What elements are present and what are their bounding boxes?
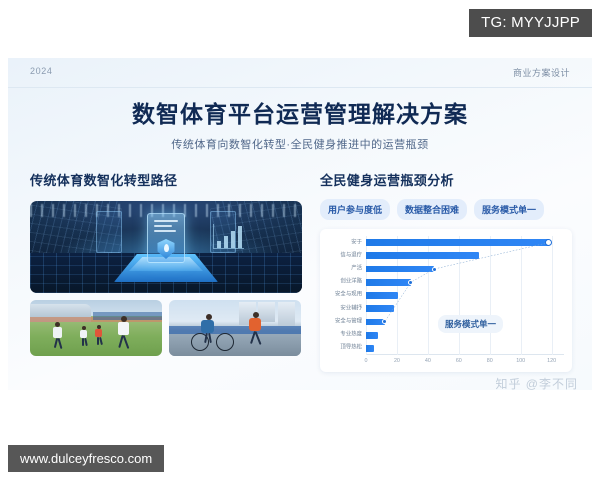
chart-x-tick-labels: 020406080100120 <box>366 358 564 368</box>
tag-data-integration[interactable]: 数据整合困难 <box>397 199 467 220</box>
background-building <box>278 302 295 328</box>
chart-x-tick: 80 <box>487 358 493 364</box>
chart-category-label: 产活 <box>351 266 362 271</box>
telegram-watermark-tag: TG: MYYJJPP <box>469 9 592 37</box>
soccer-player-left <box>52 322 64 349</box>
chart-bar-row: 产活 <box>366 266 564 273</box>
hologram-bar-chart-icon <box>213 224 244 249</box>
chart-x-tick: 20 <box>394 358 400 364</box>
chart-bar[interactable] <box>366 345 374 352</box>
thumbnail-row <box>30 300 302 356</box>
chart-category-label: 专业热度 <box>340 332 362 337</box>
chart-x-tick: 120 <box>547 358 556 364</box>
bottleneck-tag-row: 用户参与度低 数据整合困难 服务模式单一 <box>320 199 572 220</box>
bottleneck-bar-chart: 安于信与退疗产活创业洋路安全与现用安业辅抒安全与管理专业热度顶导热松 02040… <box>320 229 572 372</box>
cyclist-figure <box>199 314 217 344</box>
chart-bar[interactable] <box>366 252 479 259</box>
chart-x-tick: 100 <box>516 358 525 364</box>
tag-user-participation[interactable]: 用户参与度低 <box>320 199 390 220</box>
stadium-hologram-image <box>30 201 302 293</box>
runner-figure <box>247 312 264 346</box>
chart-bar-row: 顶导热松 <box>366 345 564 352</box>
slide-year-label: 2024 <box>30 66 52 76</box>
left-panel: 传统体育数智化转型路径 <box>30 170 302 356</box>
chart-category-label: 安于 <box>351 240 362 245</box>
chart-category-label: 安业辅抒 <box>340 306 362 311</box>
chart-bar-row: 安于 <box>366 239 564 246</box>
chart-bar[interactable] <box>366 279 411 286</box>
chart-bar-row: 安业辅抒 <box>366 305 564 312</box>
chart-category-label: 安全与现用 <box>335 293 362 298</box>
site-url-watermark: www.dulceyfresco.com <box>8 445 164 472</box>
tag-service-model[interactable]: 服务模式单一 <box>474 199 544 220</box>
chart-x-tick: 60 <box>456 358 462 364</box>
hologram-panel-left <box>96 211 122 253</box>
chart-x-tick: 40 <box>425 358 431 364</box>
chart-category-label: 顶导热松 <box>340 346 362 351</box>
track-railing <box>169 326 301 333</box>
soccer-player-red <box>95 325 104 345</box>
slide-kicker-label: 商业方案设计 <box>513 66 570 79</box>
chart-bar-row: 安全与现用 <box>366 292 564 299</box>
chart-annotation-callout: 服务模式单一 <box>438 315 503 333</box>
right-panel-heading: 全民健身运营瓶颈分析 <box>320 170 572 189</box>
left-panel-heading: 传统体育数智化转型路径 <box>30 170 302 189</box>
chart-bar[interactable] <box>366 305 394 312</box>
chart-bar-row: 创业洋路 <box>366 279 564 286</box>
page-subtitle: 传统体育向数智化转型·全民健身推进中的运营瓶颈 <box>8 136 592 152</box>
soccer-photo-thumbnail <box>30 300 162 356</box>
chart-x-axis <box>366 354 564 355</box>
chart-plot-area: 安于信与退疗产活创业洋路安全与现用安业辅抒安全与管理专业热度顶导热松 <box>366 236 564 355</box>
chart-category-label: 安全与管理 <box>335 319 362 324</box>
chart-bar[interactable] <box>366 292 398 299</box>
zhihu-watermark: 知乎 @李不同 <box>495 375 578 390</box>
chart-category-label: 创业洋路 <box>340 280 362 285</box>
slide-header-bar <box>8 58 592 88</box>
slide-title-block: 数智体育平台运营管理解决方案 传统体育向数智化转型·全民健身推进中的运营瓶颈 <box>8 102 592 152</box>
bicycle-wheel-front <box>216 333 234 351</box>
chart-bar[interactable] <box>366 266 434 273</box>
chart-data-marker[interactable] <box>432 267 437 272</box>
chart-bar[interactable] <box>366 332 378 339</box>
soccer-player-foreground <box>116 316 132 350</box>
right-panel: 全民健身运营瓶颈分析 用户参与度低 数据整合困难 服务模式单一 安于信与退疗产活… <box>320 170 572 372</box>
cycling-photo-thumbnail <box>169 300 301 356</box>
page-title: 数智体育平台运营管理解决方案 <box>8 102 592 127</box>
track-road <box>169 334 301 356</box>
chart-category-label: 信与退疗 <box>340 253 362 258</box>
chart-x-tick: 0 <box>365 358 368 364</box>
chart-bar[interactable] <box>366 239 549 246</box>
soccer-player-mid <box>80 326 89 346</box>
chart-bar-row: 信与退疗 <box>366 252 564 259</box>
presentation-slide: 2024 商业方案设计 数智体育平台运营管理解决方案 传统体育向数智化转型·全民… <box>8 58 592 390</box>
